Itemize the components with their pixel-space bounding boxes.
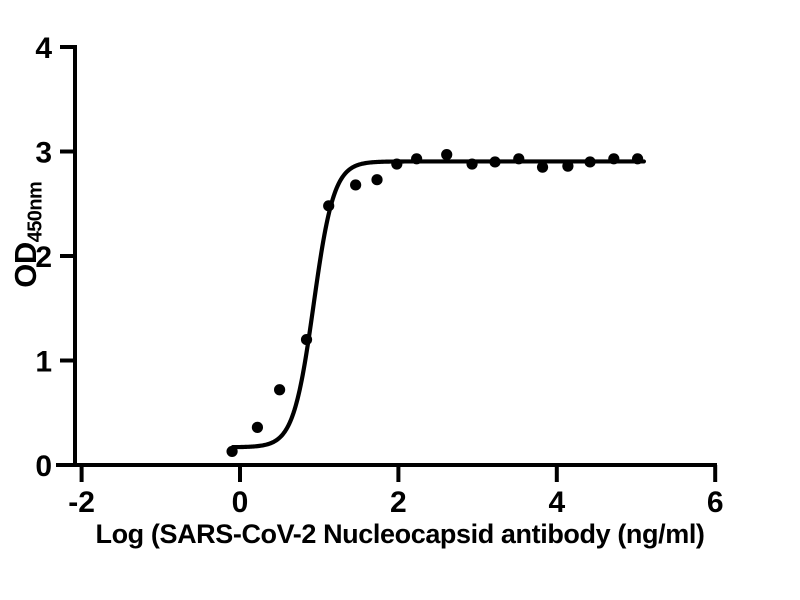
- data-point: [584, 156, 595, 167]
- data-point: [489, 156, 500, 167]
- chart-figure: OD450nm 01234 -20246 Log (SARS-CoV-2 Nuc…: [0, 0, 800, 600]
- x-tick-label: 0: [232, 486, 249, 519]
- data-point: [632, 153, 643, 164]
- x-tick-label: 2: [390, 486, 407, 519]
- data-point: [391, 158, 402, 169]
- data-point: [226, 446, 237, 457]
- x-axis-ticks: -20246: [68, 465, 723, 519]
- y-tick-label: 0: [35, 450, 52, 483]
- data-point: [608, 153, 619, 164]
- data-point: [274, 384, 285, 395]
- data-point: [371, 174, 382, 185]
- axes: [58, 47, 715, 465]
- data-point: [441, 149, 452, 160]
- y-tick-label: 2: [35, 241, 52, 274]
- data-point: [252, 422, 263, 433]
- data-point: [537, 162, 548, 173]
- data-point: [513, 153, 524, 164]
- data-point: [350, 179, 361, 190]
- y-axis-ticks: 01234: [35, 32, 75, 483]
- sigmoid-fit-curve: [233, 161, 644, 447]
- y-tick-label: 4: [35, 32, 52, 65]
- data-point: [562, 161, 573, 172]
- data-point: [466, 158, 477, 169]
- plot-area: 01234 -20246: [0, 0, 800, 520]
- data-point: [301, 334, 312, 345]
- y-tick-label: 3: [35, 137, 52, 170]
- y-tick-label: 1: [35, 346, 52, 379]
- data-points: [226, 149, 643, 457]
- x-tick-label: 4: [548, 486, 565, 519]
- x-axis-label: Log (SARS-CoV-2 Nucleocapsid antibody (n…: [0, 519, 800, 550]
- data-point: [411, 153, 422, 164]
- x-tick-label: -2: [68, 486, 95, 519]
- data-point: [323, 200, 334, 211]
- x-tick-label: 6: [707, 486, 724, 519]
